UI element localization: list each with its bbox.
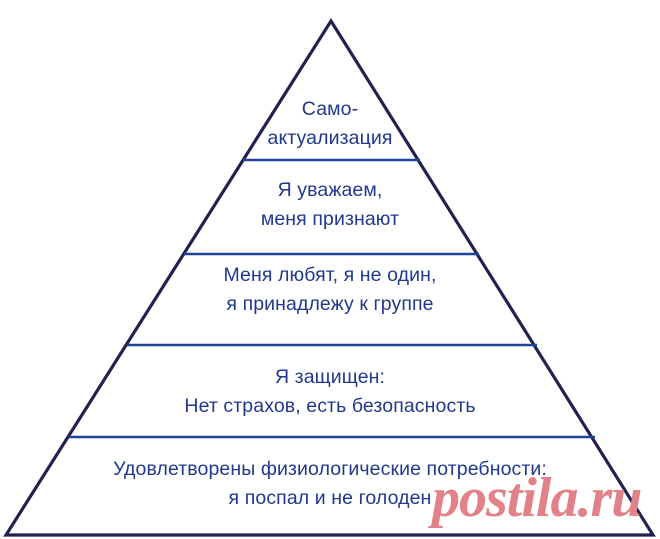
pyramid-figure: Само- актуализация Я уважаем, меня призн… — [0, 0, 660, 539]
pyramid-outline-graphic — [0, 0, 660, 539]
triangle-outline — [6, 21, 653, 535]
